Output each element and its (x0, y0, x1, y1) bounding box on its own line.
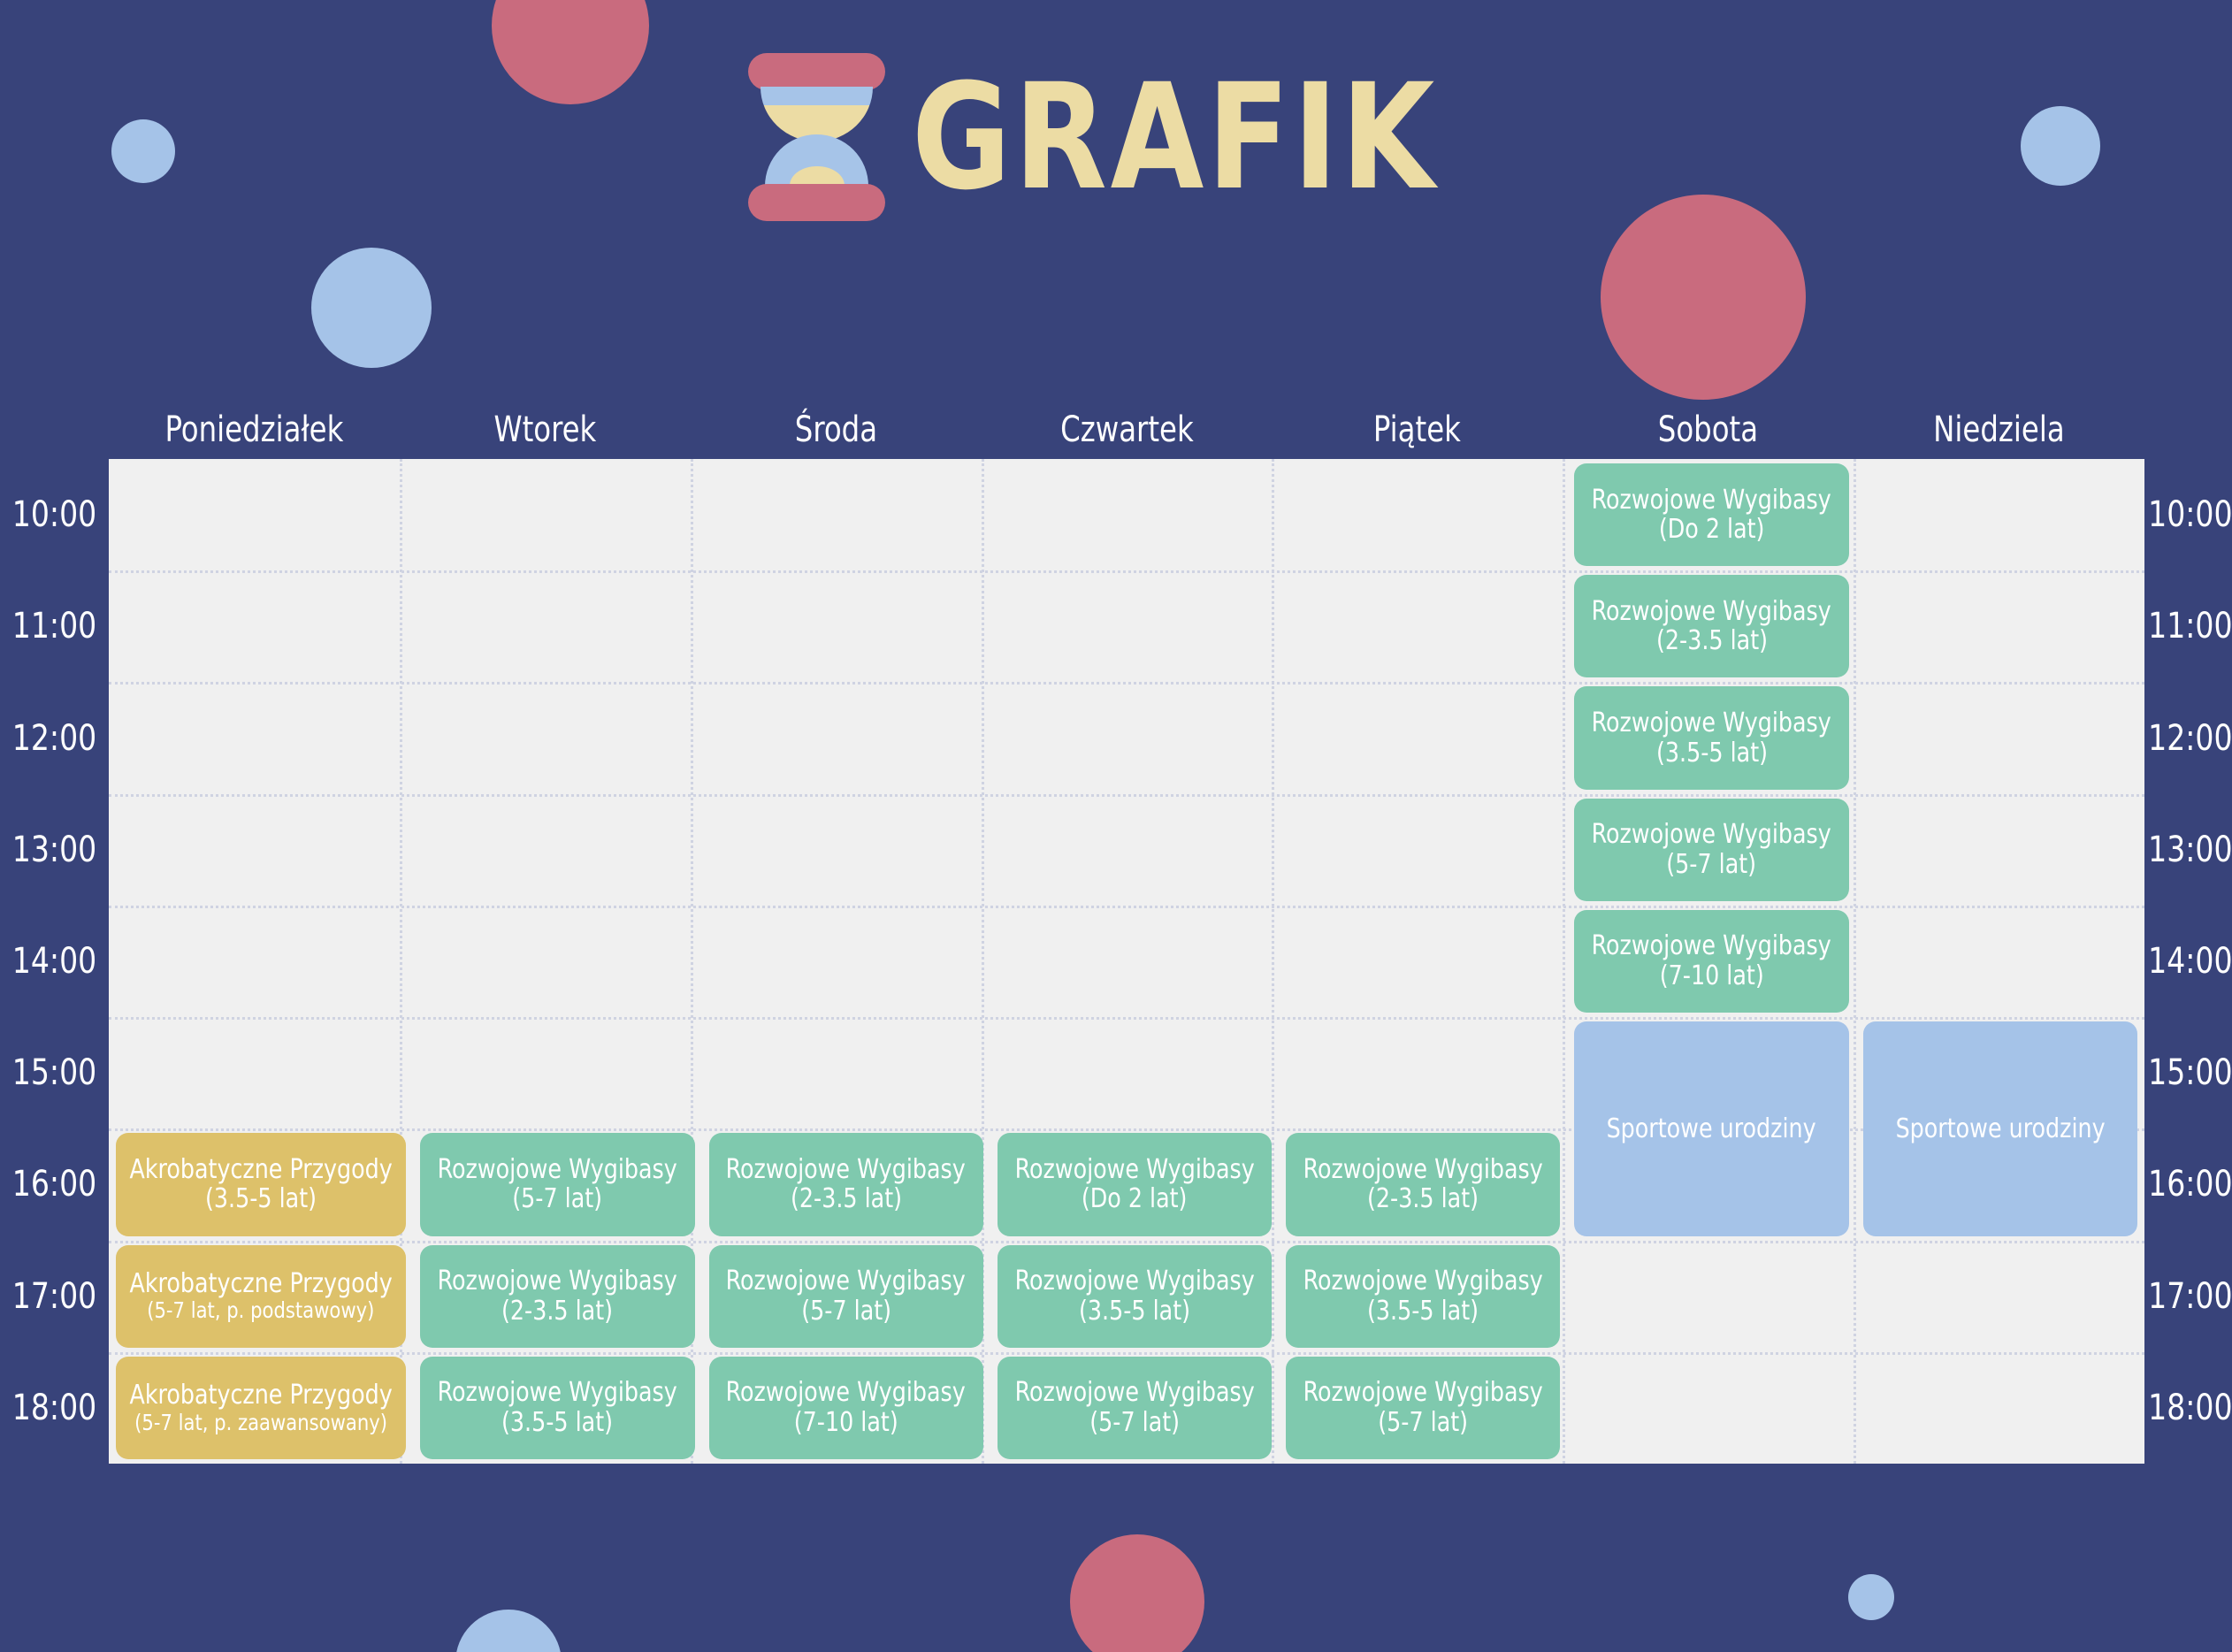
day-header-0: Poniedziałek (123, 402, 385, 457)
schedule-slot-empty (109, 794, 413, 906)
schedule-slot-empty (1279, 906, 1567, 1017)
schedule-slot-empty (109, 906, 413, 1017)
schedule-slot-empty (990, 794, 1279, 906)
event-age-group: (5-7 lat, p. zaawansowany) (134, 1411, 387, 1435)
schedule-slot-empty (109, 682, 413, 793)
event-title: Akrobatyczne Przygody (129, 1380, 392, 1411)
event-block[interactable]: Rozwojowe Wygibasy(2-3.5 lat) (420, 1245, 694, 1348)
schedule-slot-filled[interactable]: Rozwojowe Wygibasy(3.5-5 lat) (1279, 1241, 1567, 1352)
schedule-slot-filled[interactable]: Rozwojowe Wygibasy(Do 2 lat) (990, 1128, 1279, 1240)
time-label-1600: 16:00 (2148, 1128, 2232, 1240)
event-age-group: (2-3.5 lat) (791, 1184, 902, 1214)
event-block[interactable]: Akrobatyczne Przygody(5-7 lat, p. podsta… (116, 1245, 406, 1348)
schedule-slot-empty (413, 906, 701, 1017)
schedule-slot-empty (702, 459, 990, 570)
schedule-slot-filled[interactable]: Rozwojowe Wygibasy(3.5-5 lat) (990, 1241, 1279, 1352)
schedule-slot-empty (109, 570, 413, 682)
event-title: Akrobatyczne Przygody (129, 1269, 392, 1299)
event-age-group: (7-10 lat) (794, 1408, 898, 1438)
schedule-slot-empty (1279, 459, 1567, 570)
time-label-1600: 16:00 (4, 1128, 104, 1240)
event-title: Rozwojowe Wygibasy (1592, 708, 1831, 738)
event-title: Rozwojowe Wygibasy (438, 1155, 677, 1185)
event-age-group: (Do 2 lat) (1082, 1184, 1188, 1214)
event-block[interactable]: Akrobatyczne Przygody(5-7 lat, p. zaawan… (116, 1357, 406, 1459)
event-title: Rozwojowe Wygibasy (438, 1266, 677, 1296)
time-label-1000: 10:00 (4, 459, 104, 570)
event-block[interactable]: Rozwojowe Wygibasy(5-7 lat) (709, 1245, 983, 1348)
schedule-slot-empty (1856, 459, 2144, 570)
event-title: Sportowe urodziny (1607, 1114, 1816, 1144)
schedule-page: GRAFIK PoniedziałekWtorekŚrodaCzwartekPi… (0, 0, 2232, 1652)
schedule-slot-empty (990, 682, 1279, 793)
schedule-slot-empty (1279, 1017, 1567, 1128)
hourglass-cap-bottom (748, 184, 885, 221)
event-title: Rozwojowe Wygibasy (1592, 597, 1831, 627)
event-title: Rozwojowe Wygibasy (1303, 1266, 1543, 1296)
event-age-group: (2-3.5 lat) (1656, 626, 1768, 656)
schedule-slot-empty (990, 570, 1279, 682)
event-age-group: (2-3.5 lat) (1367, 1184, 1479, 1214)
schedule-slot-empty (109, 1017, 413, 1128)
schedule-grid: Rozwojowe Wygibasy(Do 2 lat)Rozwojowe Wy… (109, 459, 2144, 1464)
event-age-group: (3.5-5 lat) (1367, 1296, 1479, 1327)
time-label-1300: 13:00 (4, 794, 104, 906)
schedule-slot-empty (413, 570, 701, 682)
schedule-slot-filled[interactable]: Rozwojowe Wygibasy(3.5-5 lat) (1567, 682, 1855, 793)
event-block[interactable]: Rozwojowe Wygibasy(7-10 lat) (1574, 910, 1848, 1013)
time-label-1500: 15:00 (2148, 1017, 2232, 1128)
schedule-slot-empty (1279, 794, 1567, 906)
event-age-group: (3.5-5 lat) (205, 1184, 317, 1214)
time-axis-right: 10:0011:0012:0013:0014:0015:0016:0017:00… (2144, 459, 2232, 1464)
schedule-slot-empty (702, 906, 990, 1017)
event-age-group: (3.5-5 lat) (1656, 738, 1768, 769)
event-title: Rozwojowe Wygibasy (1303, 1378, 1543, 1408)
schedule-slot-empty (702, 1017, 990, 1128)
event-age-group: (2-3.5 lat) (501, 1296, 613, 1327)
day-header-3: Czwartek (996, 402, 1257, 457)
event-block[interactable]: Sportowe urodziny (1574, 1021, 1848, 1235)
day-header-5: Sobota (1578, 402, 1839, 457)
schedule-slot-empty (413, 682, 701, 793)
event-block[interactable]: Rozwojowe Wygibasy(7-10 lat) (709, 1357, 983, 1459)
event-block[interactable]: Akrobatyczne Przygody(3.5-5 lat) (116, 1133, 406, 1235)
event-age-group: (5-7 lat) (1667, 850, 1757, 880)
hourglass-icon (748, 53, 885, 221)
event-block[interactable]: Rozwojowe Wygibasy(5-7 lat) (420, 1133, 694, 1235)
page-header: GRAFIK (0, 35, 2232, 239)
event-age-group: (3.5-5 lat) (501, 1408, 613, 1438)
schedule-slot-empty (990, 1017, 1279, 1128)
time-label-1000: 10:00 (2148, 459, 2232, 570)
event-title: Rozwojowe Wygibasy (726, 1266, 966, 1296)
event-title: Rozwojowe Wygibasy (1592, 486, 1831, 516)
schedule-slot-empty (1856, 682, 2144, 793)
schedule-slot-filled[interactable]: Sportowe urodziny (1567, 1017, 1855, 1240)
schedule-slot-filled[interactable]: Akrobatyczne Przygody(5-7 lat, p. podsta… (109, 1241, 413, 1352)
schedule-slot-empty (1567, 1241, 1855, 1352)
page-title: GRAFIK (912, 65, 1438, 210)
event-block[interactable]: Rozwojowe Wygibasy(3.5-5 lat) (420, 1357, 694, 1459)
schedule-slot-filled[interactable]: Rozwojowe Wygibasy(5-7 lat) (702, 1241, 990, 1352)
hourglass-cap-top (748, 53, 885, 90)
schedule-slot-empty (990, 906, 1279, 1017)
schedule-slot-empty (702, 682, 990, 793)
time-label-1800: 18:00 (2148, 1352, 2232, 1464)
schedule-slot-empty (413, 794, 701, 906)
day-header-2: Środa (705, 402, 967, 457)
schedule-slot-empty (702, 570, 990, 682)
event-title: Rozwojowe Wygibasy (438, 1378, 677, 1408)
event-block[interactable]: Rozwojowe Wygibasy(2-3.5 lat) (1286, 1133, 1560, 1235)
event-age-group: (Do 2 lat) (1659, 515, 1765, 545)
event-block[interactable]: Rozwojowe Wygibasy(5-7 lat) (998, 1357, 1272, 1459)
hourglass-bulb-top (761, 87, 873, 141)
schedule-slot-filled[interactable]: Rozwojowe Wygibasy(7-10 lat) (1567, 906, 1855, 1017)
event-block[interactable]: Rozwojowe Wygibasy(3.5-5 lat) (1286, 1245, 1560, 1348)
schedule-slot-empty (109, 459, 413, 570)
schedule-slot-filled[interactable]: Rozwojowe Wygibasy(5-7 lat) (1279, 1352, 1567, 1464)
time-axis-left: 10:0011:0012:0013:0014:0015:0016:0017:00… (0, 459, 109, 1464)
event-title: Rozwojowe Wygibasy (726, 1378, 966, 1408)
schedule-slot-empty (1856, 906, 2144, 1017)
day-header-row: PoniedziałekWtorekŚrodaCzwartekPiątekSob… (109, 402, 2144, 457)
event-title: Rozwojowe Wygibasy (1014, 1266, 1254, 1296)
time-label-1400: 14:00 (2148, 906, 2232, 1017)
time-label-1700: 17:00 (4, 1241, 104, 1352)
event-block[interactable]: Rozwojowe Wygibasy(2-3.5 lat) (709, 1133, 983, 1235)
event-age-group: (3.5-5 lat) (1079, 1296, 1190, 1327)
event-age-group: (7-10 lat) (1660, 961, 1764, 991)
schedule-slot-filled[interactable]: Rozwojowe Wygibasy(3.5-5 lat) (413, 1352, 701, 1464)
event-block[interactable]: Rozwojowe Wygibasy(5-7 lat) (1574, 799, 1848, 901)
decorative-circle (1848, 1574, 1894, 1620)
event-block[interactable]: Rozwojowe Wygibasy(2-3.5 lat) (1574, 575, 1848, 677)
schedule-cells: Rozwojowe Wygibasy(Do 2 lat)Rozwojowe Wy… (109, 459, 2144, 1464)
schedule-slot-filled[interactable]: Rozwojowe Wygibasy(2-3.5 lat) (702, 1128, 990, 1240)
event-title: Rozwojowe Wygibasy (726, 1155, 966, 1185)
schedule-slot-empty (990, 459, 1279, 570)
event-age-group: (5-7 lat, p. podstawowy) (148, 1298, 375, 1323)
schedule-slot-filled[interactable]: Rozwojowe Wygibasy(5-7 lat) (1567, 794, 1855, 906)
time-label-1100: 11:00 (4, 570, 104, 682)
schedule-slot-filled[interactable]: Rozwojowe Wygibasy(5-7 lat) (990, 1352, 1279, 1464)
event-title: Rozwojowe Wygibasy (1592, 820, 1831, 850)
schedule-slot-empty (413, 459, 701, 570)
event-title: Sportowe urodziny (1895, 1114, 2105, 1144)
time-label-1200: 12:00 (4, 682, 104, 793)
time-label-1300: 13:00 (2148, 794, 2232, 906)
schedule-slot-filled[interactable]: Rozwojowe Wygibasy(2-3.5 lat) (413, 1241, 701, 1352)
time-label-1500: 15:00 (4, 1017, 104, 1128)
event-block[interactable]: Rozwojowe Wygibasy(Do 2 lat) (1574, 463, 1848, 566)
schedule-slot-empty (702, 794, 990, 906)
event-block[interactable]: Rozwojowe Wygibasy(Do 2 lat) (998, 1133, 1272, 1235)
event-block[interactable]: Rozwojowe Wygibasy(5-7 lat) (1286, 1357, 1560, 1459)
schedule-slot-filled[interactable]: Rozwojowe Wygibasy(2-3.5 lat) (1567, 570, 1855, 682)
event-age-group: (5-7 lat) (512, 1184, 602, 1214)
day-header-6: Niedziela (1869, 402, 2130, 457)
event-title: Rozwojowe Wygibasy (1303, 1155, 1543, 1185)
event-age-group: (5-7 lat) (801, 1296, 891, 1327)
time-label-1200: 12:00 (2148, 682, 2232, 793)
event-age-group: (5-7 lat) (1378, 1408, 1468, 1438)
schedule-slot-filled[interactable]: Akrobatyczne Przygody(3.5-5 lat) (109, 1128, 413, 1240)
decorative-circle (1070, 1534, 1204, 1652)
decorative-circle (455, 1610, 562, 1652)
schedule-slot-filled[interactable]: Akrobatyczne Przygody(5-7 lat, p. zaawan… (109, 1352, 413, 1464)
schedule-slot-filled[interactable]: Sportowe urodziny (1856, 1017, 2144, 1240)
day-header-1: Wtorek (414, 402, 676, 457)
event-age-group: (5-7 lat) (1089, 1408, 1180, 1438)
schedule-slot-empty (413, 1017, 701, 1128)
event-title: Rozwojowe Wygibasy (1014, 1155, 1254, 1185)
schedule-slot-empty (1856, 1352, 2144, 1464)
event-title: Rozwojowe Wygibasy (1014, 1378, 1254, 1408)
event-title: Rozwojowe Wygibasy (1592, 931, 1831, 961)
decorative-circle (311, 248, 432, 368)
event-block[interactable]: Rozwojowe Wygibasy(3.5-5 lat) (1574, 686, 1848, 789)
event-title: Akrobatyczne Przygody (129, 1155, 392, 1185)
schedule-slot-empty (1856, 794, 2144, 906)
schedule-slot-filled[interactable]: Rozwojowe Wygibasy(2-3.5 lat) (1279, 1128, 1567, 1240)
schedule-slot-empty (1279, 570, 1567, 682)
schedule-slot-filled[interactable]: Rozwojowe Wygibasy(7-10 lat) (702, 1352, 990, 1464)
schedule-slot-empty (1567, 1352, 1855, 1464)
time-label-1800: 18:00 (4, 1352, 104, 1464)
day-header-4: Piątek (1287, 402, 1548, 457)
schedule-slot-filled[interactable]: Rozwojowe Wygibasy(5-7 lat) (413, 1128, 701, 1240)
time-label-1700: 17:00 (2148, 1241, 2232, 1352)
event-block[interactable]: Rozwojowe Wygibasy(3.5-5 lat) (998, 1245, 1272, 1348)
time-label-1100: 11:00 (2148, 570, 2232, 682)
schedule-slot-empty (1856, 570, 2144, 682)
schedule-slot-filled[interactable]: Rozwojowe Wygibasy(Do 2 lat) (1567, 459, 1855, 570)
event-block[interactable]: Sportowe urodziny (1863, 1021, 2137, 1235)
time-label-1400: 14:00 (4, 906, 104, 1017)
schedule-slot-empty (1279, 682, 1567, 793)
schedule-slot-empty (1856, 1241, 2144, 1352)
